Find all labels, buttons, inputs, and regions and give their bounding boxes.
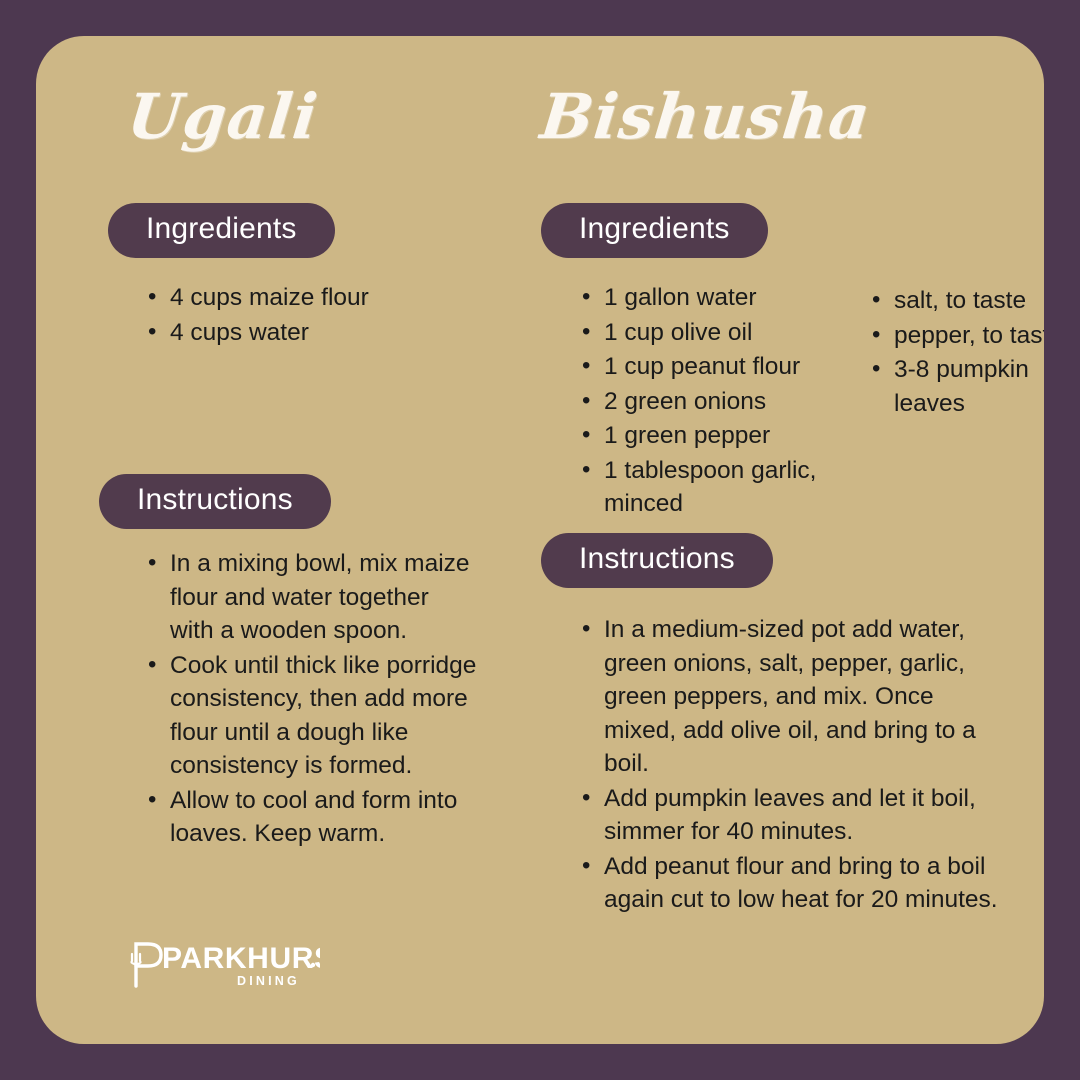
section-badge-ugali-instructions: Instructions xyxy=(99,474,331,529)
logo-registered-dot xyxy=(311,963,315,967)
list-item: Add peanut flour and bring to a boil aga… xyxy=(582,850,1012,917)
list-item: In a medium-sized pot add water, green o… xyxy=(582,613,1012,781)
list-item: 1 cup olive oil xyxy=(582,316,882,350)
list-item: 4 cups water xyxy=(148,316,508,350)
parkhurst-dining-logo: PARKHURST DINING xyxy=(120,934,320,996)
list-item: In a mixing bowl, mix maize flour and wa… xyxy=(148,547,478,648)
fork-p-icon xyxy=(131,944,162,986)
list-item: salt, to taste xyxy=(872,284,1044,318)
list-item: Cook until thick like porridge consisten… xyxy=(148,649,478,783)
list-item: Add pumpkin leaves and let it boil, simm… xyxy=(582,782,1012,849)
list-item: 1 tablespoon garlic, minced xyxy=(582,454,882,521)
bishusha-ingredients-list-column-1: 1 gallon water 1 cup olive oil 1 cup pea… xyxy=(556,281,882,522)
logo-brand-text: PARKHURST xyxy=(162,942,320,975)
list-item: 1 green pepper xyxy=(582,419,882,453)
bishusha-instructions-list: In a medium-sized pot add water, green o… xyxy=(556,613,1012,918)
recipe-title-bishusha: Bishusha xyxy=(537,80,874,153)
list-item: Allow to cool and form into loaves. Keep… xyxy=(148,784,478,851)
ugali-instructions-list: In a mixing bowl, mix maize flour and wa… xyxy=(122,547,478,852)
logo-tagline-text: DINING xyxy=(237,974,300,988)
list-item: 1 gallon water xyxy=(582,281,882,315)
recipe-card: Ugali Ingredients 4 cups maize flour 4 c… xyxy=(36,36,1044,1044)
ugali-ingredients-list: 4 cups maize flour 4 cups water xyxy=(122,281,508,350)
list-item: 2 green onions xyxy=(582,385,882,419)
bishusha-ingredients-list-column-2: salt, to taste pepper, to taste 3-8 pump… xyxy=(846,284,1044,421)
list-item: 4 cups maize flour xyxy=(148,281,508,315)
section-badge-ugali-ingredients: Ingredients xyxy=(108,203,335,258)
list-item: 3-8 pumpkin leaves xyxy=(872,353,1044,420)
recipe-title-ugali: Ugali xyxy=(124,80,321,153)
section-badge-bishusha-instructions: Instructions xyxy=(541,533,773,588)
section-badge-bishusha-ingredients: Ingredients xyxy=(541,203,768,258)
list-item: pepper, to taste xyxy=(872,319,1044,353)
list-item: 1 cup peanut flour xyxy=(582,350,882,384)
